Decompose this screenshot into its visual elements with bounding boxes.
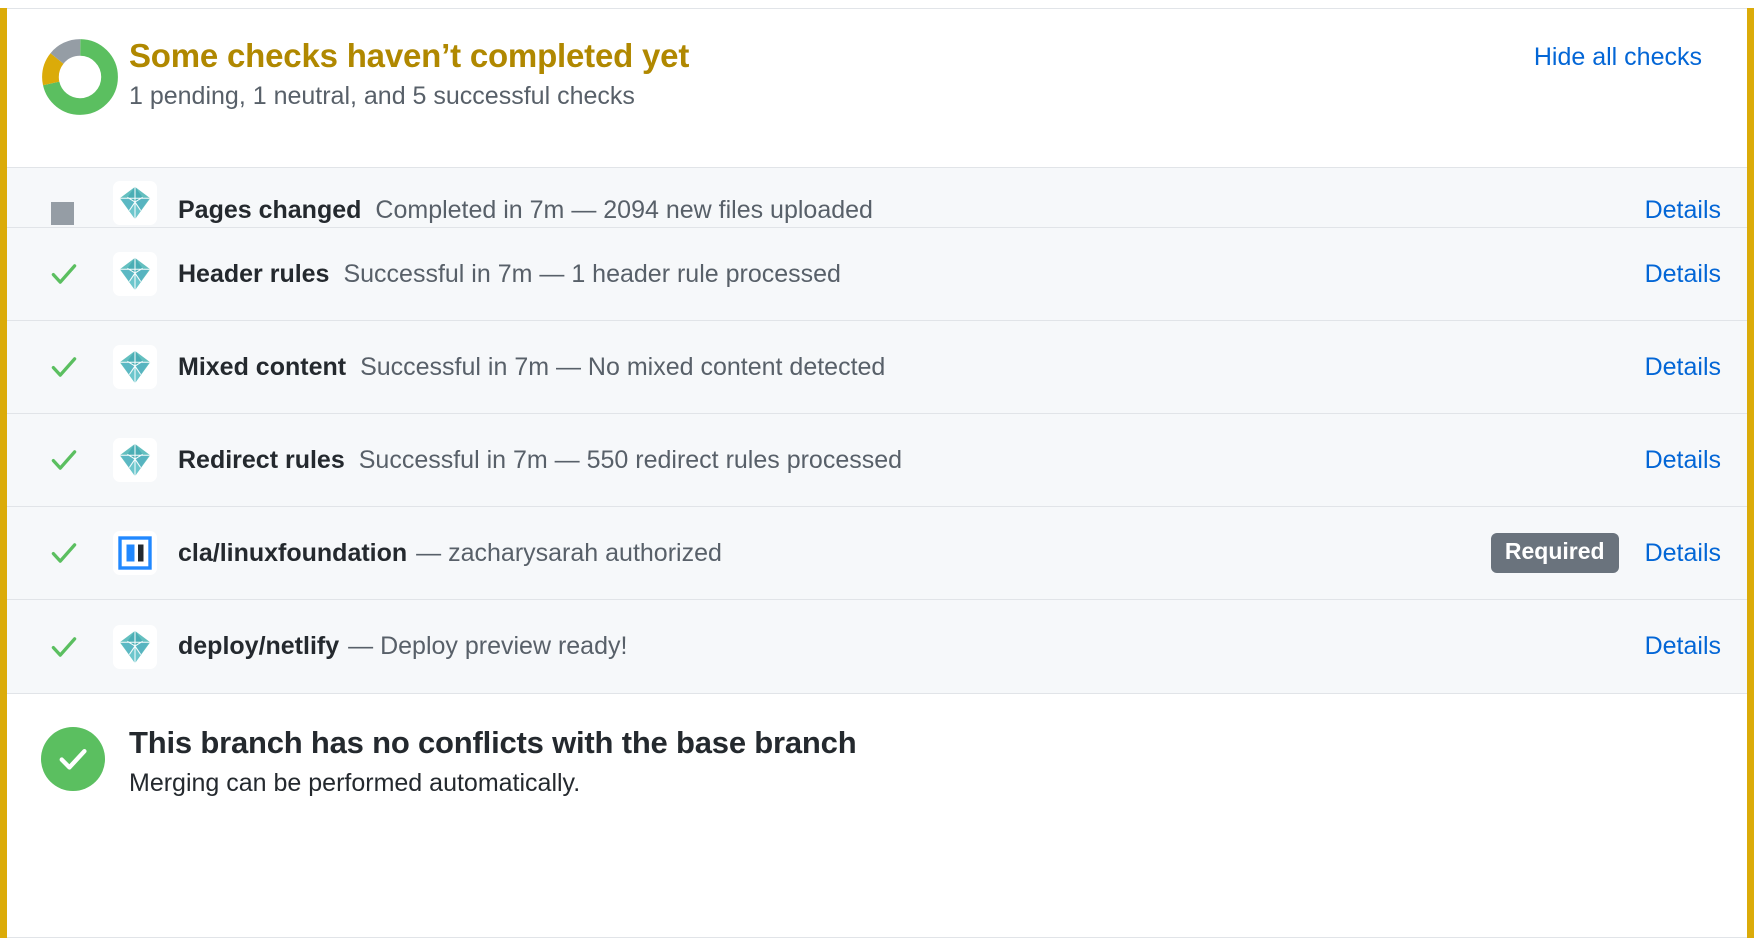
check-icon [49, 259, 79, 289]
check-description: Completed in 7m — 2094 new files uploade… [375, 196, 873, 225]
checks-summary-subtitle: 1 pending, 1 neutral, and 5 successful c… [129, 80, 1534, 113]
check-row[interactable]: Pages changed Completed in 7m — 2094 new… [7, 168, 1747, 228]
check-status-icon-wrap [49, 538, 113, 568]
check-status-icon-wrap [49, 202, 113, 225]
merge-box: Some checks haven’t completed yet 1 pend… [0, 8, 1754, 938]
check-details-link[interactable]: Details [1645, 539, 1721, 568]
check-row[interactable]: deploy/netlify — Deploy preview ready! D… [7, 600, 1747, 693]
check-status-icon-wrap [49, 445, 113, 475]
check-details-link[interactable]: Details [1645, 260, 1721, 289]
check-description: Successful in 7m — 1 header rule process… [343, 260, 840, 289]
linuxfoundation-icon [113, 531, 157, 575]
check-name: Pages changed [178, 196, 361, 225]
check-description: — zacharysarah authorized [416, 539, 722, 568]
netlify-icon [113, 625, 157, 669]
check-details-link[interactable]: Details [1645, 632, 1721, 661]
merge-status-icon-wrap [41, 724, 123, 791]
checks-summary-header: Some checks haven’t completed yet 1 pend… [7, 8, 1747, 167]
check-description: Successful in 7m — 550 redirect rules pr… [359, 446, 902, 475]
check-description: Successful in 7m — No mixed content dete… [360, 353, 885, 382]
check-name: Header rules [178, 260, 329, 289]
check-name: deploy/netlify [178, 632, 339, 661]
merge-status-section: This branch has no conflicts with the ba… [7, 693, 1747, 938]
check-details-link[interactable]: Details [1645, 196, 1721, 225]
checks-donut-wrap [41, 35, 123, 116]
merge-status-title: This branch has no conflicts with the ba… [129, 724, 1713, 761]
check-row[interactable]: Header rules Successful in 7m — 1 header… [7, 228, 1747, 321]
hide-all-checks-link[interactable]: Hide all checks [1534, 35, 1713, 72]
netlify-icon [113, 181, 157, 225]
check-details-link[interactable]: Details [1645, 353, 1721, 382]
neutral-square-icon [51, 202, 74, 225]
merge-status-text: This branch has no conflicts with the ba… [123, 724, 1713, 800]
check-row[interactable]: cla/linuxfoundation — zacharysarah autho… [7, 507, 1747, 600]
check-circle-icon [41, 727, 105, 791]
netlify-icon [113, 438, 157, 482]
check-status-icon-wrap [49, 632, 113, 662]
checks-status-donut-icon [41, 38, 119, 116]
check-name: Redirect rules [178, 446, 345, 475]
checks-summary-text: Some checks haven’t completed yet 1 pend… [123, 35, 1534, 112]
check-row[interactable]: Mixed content Successful in 7m — No mixe… [7, 321, 1747, 414]
bottom-divider [7, 937, 1747, 938]
check-status-icon-wrap [49, 352, 113, 382]
required-badge: Required [1491, 533, 1619, 572]
check-icon [49, 632, 79, 662]
check-name: Mixed content [178, 353, 346, 382]
check-icon [49, 538, 79, 568]
check-details-link[interactable]: Details [1645, 446, 1721, 475]
check-description: — Deploy preview ready! [348, 632, 627, 661]
check-row[interactable]: Redirect rules Successful in 7m — 550 re… [7, 414, 1747, 507]
check-icon [49, 352, 79, 382]
check-status-icon-wrap [49, 259, 113, 289]
merge-status-subtitle: Merging can be performed automatically. [129, 767, 1713, 800]
netlify-icon [113, 252, 157, 296]
checks-list: Pages changed Completed in 7m — 2094 new… [7, 167, 1747, 693]
pull-request-checks-panel: Some checks haven’t completed yet 1 pend… [0, 0, 1754, 946]
netlify-icon [113, 345, 157, 389]
checks-summary-title: Some checks haven’t completed yet [129, 37, 1534, 76]
check-icon [49, 445, 79, 475]
check-name: cla/linuxfoundation [178, 539, 407, 568]
